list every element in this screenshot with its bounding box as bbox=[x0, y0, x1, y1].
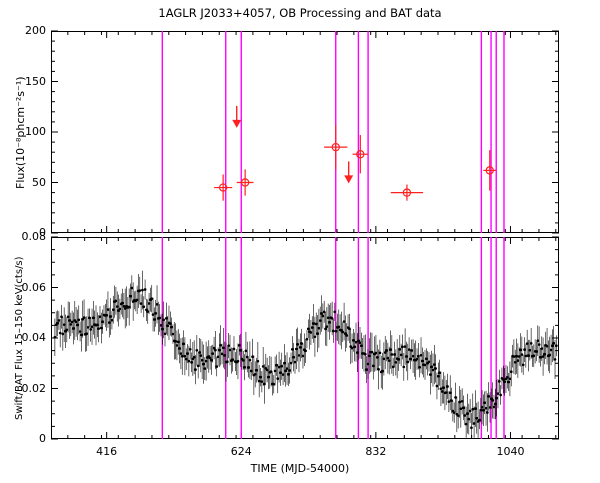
upper-limit-arrow bbox=[232, 120, 241, 128]
y-ticklabel-bottom: 0 bbox=[0, 432, 46, 445]
x-ticklabel: 832 bbox=[356, 445, 396, 458]
y-ticklabel-bottom: 0.02 bbox=[0, 382, 46, 395]
y-ticklabel-top: 100 bbox=[0, 125, 46, 138]
x-ticklabel: 1040 bbox=[490, 445, 530, 458]
chart-graphics bbox=[0, 0, 600, 483]
y-ticklabel-top: 150 bbox=[0, 75, 46, 88]
y-ticklabel-bottom: 0.06 bbox=[0, 281, 46, 294]
x-axis-label: TIME (MJD-54000) bbox=[0, 462, 600, 475]
y-ticklabel-top: 200 bbox=[0, 24, 46, 37]
upper-limit-arrow bbox=[344, 175, 353, 183]
chart-figure: 1AGLR J2033+4057, OB Processing and BAT … bbox=[0, 0, 600, 483]
y-ticklabel-bottom: 0.08 bbox=[0, 230, 46, 243]
bat-lightcurve bbox=[54, 271, 558, 438]
y-ticklabel-bottom: 0.04 bbox=[0, 331, 46, 344]
x-ticklabel: 416 bbox=[87, 445, 127, 458]
y-ticklabel-top: 50 bbox=[0, 176, 46, 189]
x-ticklabel: 624 bbox=[221, 445, 261, 458]
